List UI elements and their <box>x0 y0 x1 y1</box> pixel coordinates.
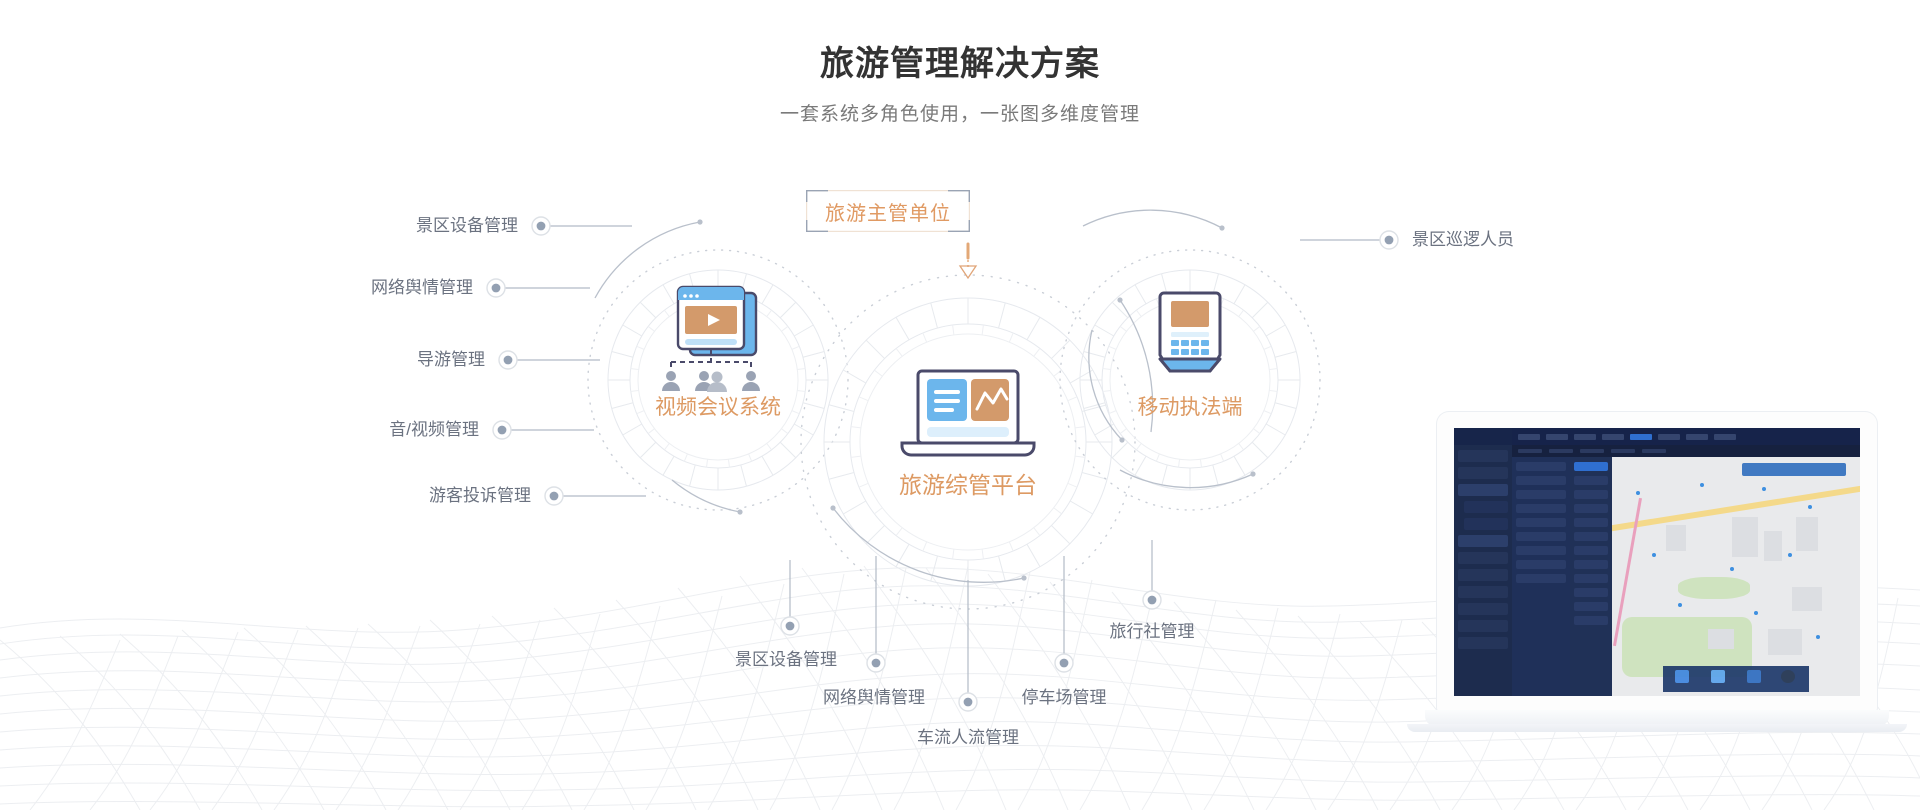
preview-tab <box>1518 434 1540 440</box>
preview-layer-row <box>1574 546 1608 555</box>
preview-sidebar-item <box>1458 603 1508 615</box>
preview-layer-row <box>1574 560 1608 569</box>
preview-sidebar-item <box>1458 484 1508 496</box>
connector-dots-right <box>1380 231 1398 249</box>
preview-tab <box>1602 434 1624 440</box>
preview-tree-panel <box>1512 457 1570 696</box>
preview-breadcrumbs <box>1512 445 1860 457</box>
preview-crumb <box>1549 449 1573 453</box>
map-view-toolbar <box>1742 463 1846 476</box>
map-action-icon <box>1711 670 1725 683</box>
preview-crumb <box>1580 449 1604 453</box>
left-label-3[interactable]: 音/视频管理 <box>389 420 479 440</box>
preview-sidebar-item <box>1464 518 1508 530</box>
map-marker <box>1788 553 1792 557</box>
preview-layer-row <box>1574 504 1608 513</box>
preview-tree-row <box>1516 476 1566 485</box>
map-action-icon <box>1781 670 1795 683</box>
laptop-foot <box>1407 724 1907 732</box>
preview-sidebar-item <box>1458 535 1508 547</box>
preview-tab <box>1546 434 1568 440</box>
laptop-screen-preview <box>1454 428 1860 696</box>
preview-sidebar-item <box>1458 586 1508 598</box>
preview-tab <box>1574 434 1596 440</box>
preview-tree-row <box>1516 504 1566 513</box>
preview-sidebar-item <box>1464 501 1508 513</box>
left-label-0[interactable]: 景区设备管理 <box>416 216 518 236</box>
preview-tree-row <box>1516 546 1566 555</box>
bottom-label-3[interactable]: 停车场管理 <box>1022 688 1107 708</box>
preview-tree-row <box>1516 560 1566 569</box>
preview-body <box>1512 457 1860 696</box>
node-label-platform: 旅游综管平台 <box>899 466 1037 500</box>
map-marker <box>1808 505 1812 509</box>
handheld-terminal-icon <box>1160 293 1220 371</box>
preview-tab <box>1658 434 1680 440</box>
preview-main <box>1512 428 1860 696</box>
preview-topbar <box>1512 428 1860 445</box>
left-label-2[interactable]: 导游管理 <box>417 350 485 370</box>
map-marker <box>1700 483 1704 487</box>
preview-tree-row <box>1516 490 1566 499</box>
connector-lines-left <box>502 226 646 496</box>
authority-box[interactable]: 旅游主管单位 <box>806 190 970 232</box>
map-marker <box>1762 487 1766 491</box>
preview-tree-row <box>1516 518 1566 527</box>
preview-layer-row <box>1574 532 1608 541</box>
preview-sidebar-item <box>1458 569 1508 581</box>
preview-tab <box>1686 434 1708 440</box>
map-action-icon <box>1747 670 1761 683</box>
laptop-dashboard-icon <box>902 371 1034 455</box>
preview-layer-row <box>1574 462 1608 471</box>
preview-layer-row <box>1574 574 1608 583</box>
preview-sidebar-item <box>1458 552 1508 564</box>
preview-tab <box>1630 434 1652 440</box>
map-building <box>1796 517 1818 551</box>
preview-layer-row <box>1574 602 1608 611</box>
map-quick-actions <box>1663 666 1809 692</box>
map-marker <box>1730 567 1734 571</box>
authority-label: 旅游主管单位 <box>825 197 951 226</box>
laptop-bezel <box>1437 412 1877 712</box>
preview-tab <box>1714 434 1736 440</box>
map-marker <box>1816 635 1820 639</box>
left-label-1[interactable]: 网络舆情管理 <box>371 278 473 298</box>
preview-map <box>1612 457 1860 696</box>
preview-layer-panel <box>1570 457 1612 696</box>
map-marker <box>1754 611 1758 615</box>
bottom-label-4[interactable]: 旅行社管理 <box>1110 622 1195 642</box>
node-circle-mobile <box>1060 250 1320 510</box>
bottom-label-0[interactable]: 景区设备管理 <box>735 650 837 670</box>
map-building <box>1792 587 1822 611</box>
preview-sidebar-item <box>1458 450 1508 462</box>
preview-sidebar-item <box>1458 637 1508 649</box>
left-label-4[interactable]: 游客投诉管理 <box>429 486 531 506</box>
preview-layer-row <box>1574 518 1608 527</box>
page-root: 旅游管理解决方案 一套系统多角色使用，一张图多维度管理 <box>0 0 1920 810</box>
map-park <box>1678 577 1750 599</box>
preview-tree-row <box>1516 574 1566 583</box>
preview-sidebar-item <box>1458 467 1508 479</box>
connector-dots-left <box>487 217 563 505</box>
authority-connector <box>960 244 976 278</box>
laptop-mockup <box>1425 412 1905 762</box>
node-label-mobile: 移动执法端 <box>1138 391 1243 421</box>
preview-tree-row <box>1516 532 1566 541</box>
map-action-icon <box>1675 670 1689 683</box>
preview-layer-row <box>1574 588 1608 597</box>
map-building <box>1708 629 1734 649</box>
preview-crumb <box>1518 449 1542 453</box>
map-marker <box>1678 603 1682 607</box>
node-label-video: 视频会议系统 <box>655 391 781 421</box>
map-building <box>1666 525 1686 551</box>
preview-crumb <box>1642 449 1666 453</box>
preview-crumb <box>1611 449 1635 453</box>
preview-sidebar <box>1454 428 1512 696</box>
right-label-0[interactable]: 景区巡逻人员 <box>1412 230 1514 250</box>
map-building <box>1764 531 1782 561</box>
preview-layer-row <box>1574 476 1608 485</box>
map-building <box>1768 629 1802 655</box>
connector-lines-bottom <box>790 540 1152 694</box>
map-marker <box>1652 553 1656 557</box>
preview-tree-row <box>1516 462 1566 471</box>
preview-layer-row <box>1574 490 1608 499</box>
bottom-label-2[interactable]: 车流人流管理 <box>917 728 1019 748</box>
bottom-label-1[interactable]: 网络舆情管理 <box>823 688 925 708</box>
map-building <box>1732 517 1758 557</box>
preview-sidebar-item <box>1458 620 1508 632</box>
preview-layer-row <box>1574 616 1608 625</box>
preview-brand <box>1454 428 1512 445</box>
map-marker <box>1636 491 1640 495</box>
